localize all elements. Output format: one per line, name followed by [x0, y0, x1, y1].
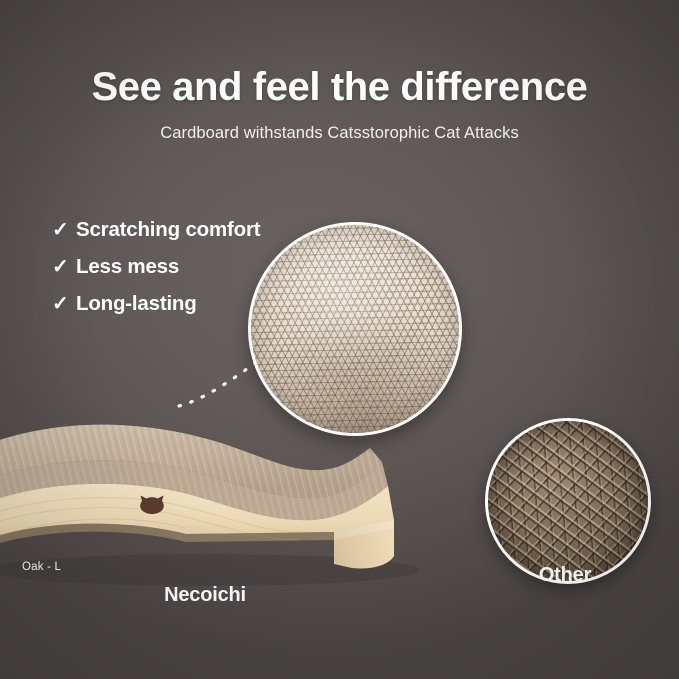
list-item: ✓ Less mess: [52, 255, 260, 279]
list-item: ✓ Long-lasting: [52, 292, 260, 316]
list-item: ✓ Scratching comfort: [52, 218, 260, 242]
necoichi-closeup-circle: [248, 222, 462, 436]
feature-label: Long-lasting: [76, 292, 197, 316]
page-title: See and feel the difference: [0, 64, 679, 110]
feature-list: ✓ Scratching comfort ✓ Less mess ✓ Long-…: [52, 218, 260, 329]
page-subtitle: Cardboard withstands Catsstorophic Cat A…: [0, 124, 679, 143]
inner-shadow: [251, 225, 459, 433]
product-hero-image: See and feel the difference Cardboard wi…: [0, 0, 679, 679]
cat-head-icon: [138, 494, 166, 516]
other-closeup-circle: [485, 418, 651, 584]
check-mark-icon: ✓: [52, 220, 76, 240]
variant-label: Oak - L: [22, 561, 61, 573]
inner-shadow: [488, 421, 648, 581]
feature-label: Less mess: [76, 255, 179, 279]
feature-label: Scratching comfort: [76, 218, 260, 242]
check-mark-icon: ✓: [52, 294, 76, 314]
check-mark-icon: ✓: [52, 257, 76, 277]
other-caption: Other: [485, 564, 645, 587]
necoichi-caption: Necoichi: [80, 584, 330, 607]
